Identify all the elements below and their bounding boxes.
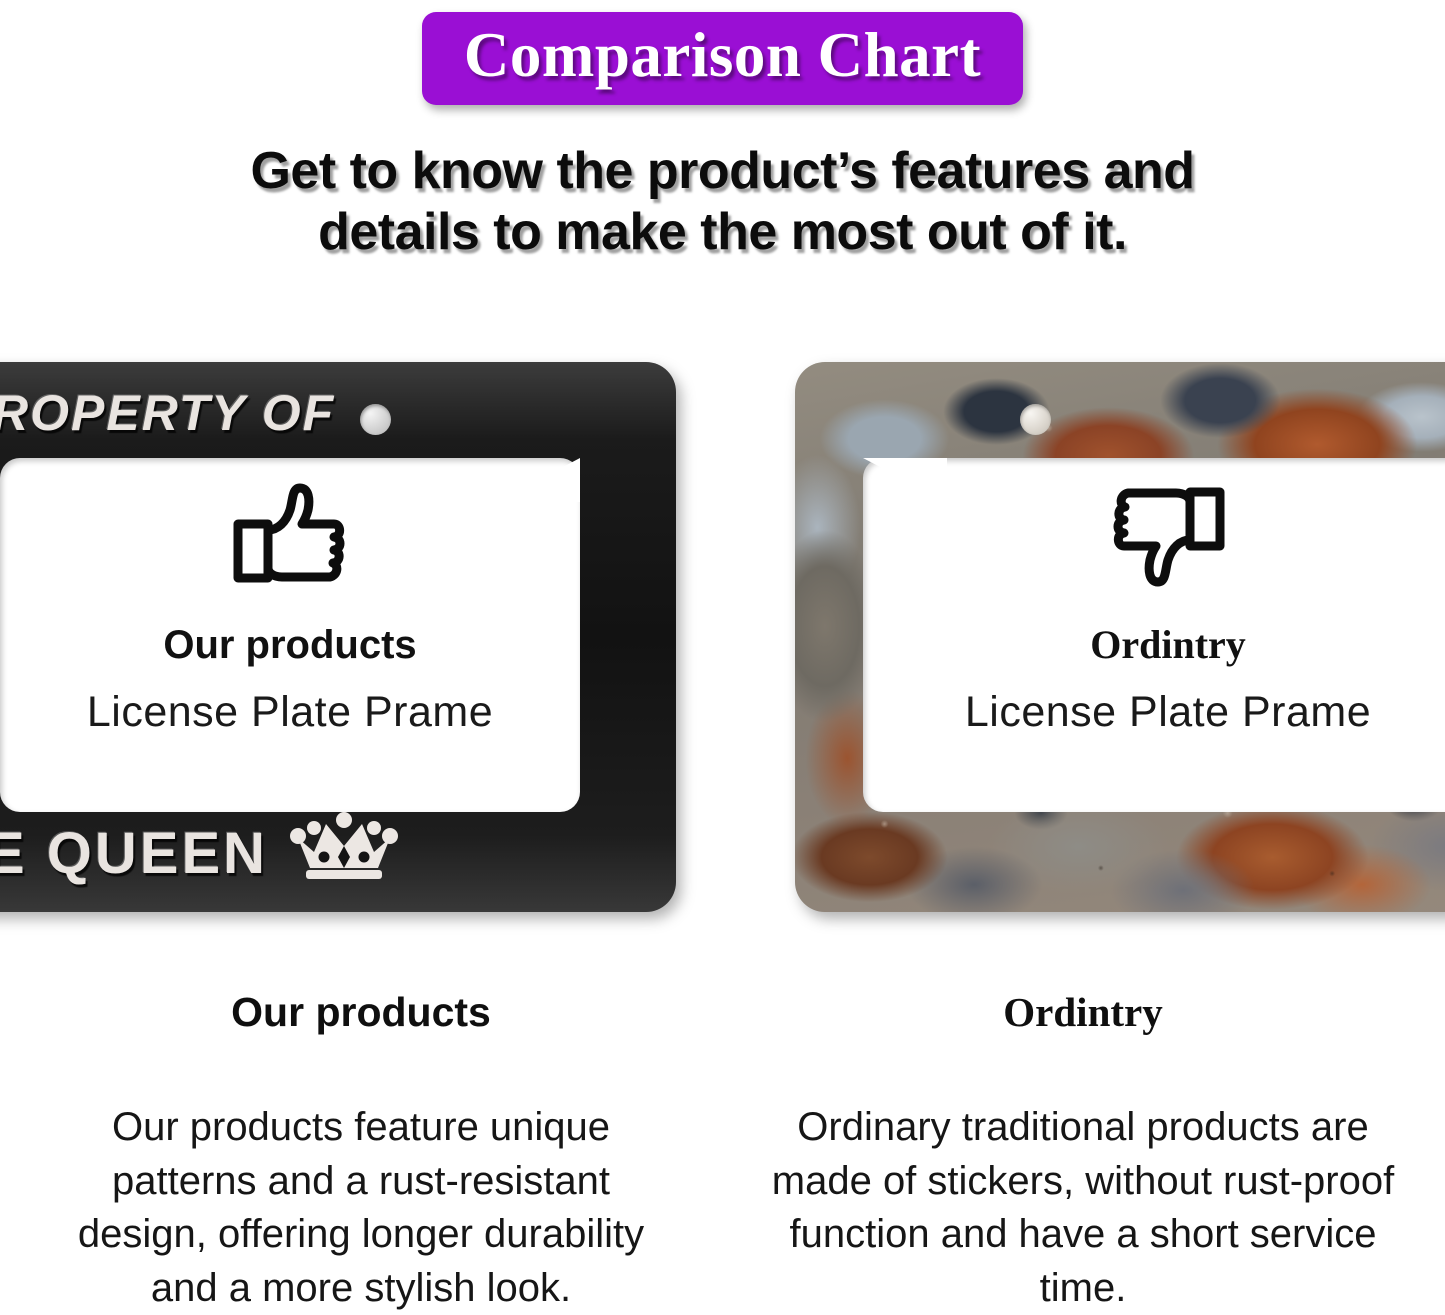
comparison-description-row: Our products Our products feature unique… <box>0 990 1445 1315</box>
ordinary-product-window-content: Ordintry License Plate Prame <box>795 480 1445 736</box>
our-product-description-column: Our products Our products feature unique… <box>0 990 722 1315</box>
thumbs-up-icon <box>230 480 350 595</box>
our-product-brand-name: Our products <box>0 623 676 667</box>
ordinary-product-plate-frame: Ordintry License Plate Prame <box>795 362 1445 912</box>
ordinary-product-column-description: Ordinary traditional products are made o… <box>764 1101 1402 1315</box>
page-subtitle-line-2: details to make the most out of it. <box>90 202 1355 263</box>
title-banner: Comparison Chart <box>422 12 1023 105</box>
our-product-brand-subtitle: License Plate Prame <box>0 689 676 736</box>
ordinary-product-mount-hole <box>1020 404 1051 435</box>
page-subtitle: Get to know the product’s features and d… <box>0 141 1445 264</box>
page-header: Comparison Chart Get to know the product… <box>0 0 1445 263</box>
title-banner-wrapper: Comparison Chart <box>0 12 1445 105</box>
page-title: Comparison Chart <box>464 20 981 91</box>
thumbs-down-icon <box>1108 480 1228 595</box>
ordinary-product-brand-name: Ordintry <box>795 623 1445 667</box>
our-product-plate-top-engraving: ROPERTY OF <box>0 384 335 442</box>
our-product-window-content: Our products License Plate Prame <box>0 480 676 736</box>
our-product-column-title: Our products <box>42 990 680 1035</box>
ordinary-product-brand-subtitle: License Plate Prame <box>795 689 1445 736</box>
crown-icon <box>290 812 398 894</box>
our-product-column-description: Our products feature unique patterns and… <box>42 1101 680 1315</box>
our-product-mount-hole <box>360 404 391 435</box>
ordinary-product-column-title: Ordintry <box>764 990 1402 1035</box>
our-product-plate-bottom-engraving: E QUEEN <box>0 812 398 894</box>
ordinary-product-description-column: Ordintry Ordinary traditional products a… <box>722 990 1444 1315</box>
product-frames-row: ROPERTY OF E QUEEN <box>0 362 1445 922</box>
our-product-plate-bottom-label: E QUEEN <box>0 820 268 887</box>
page-subtitle-line-1: Get to know the product’s features and <box>90 141 1355 202</box>
our-product-plate-frame: ROPERTY OF E QUEEN <box>0 362 676 912</box>
